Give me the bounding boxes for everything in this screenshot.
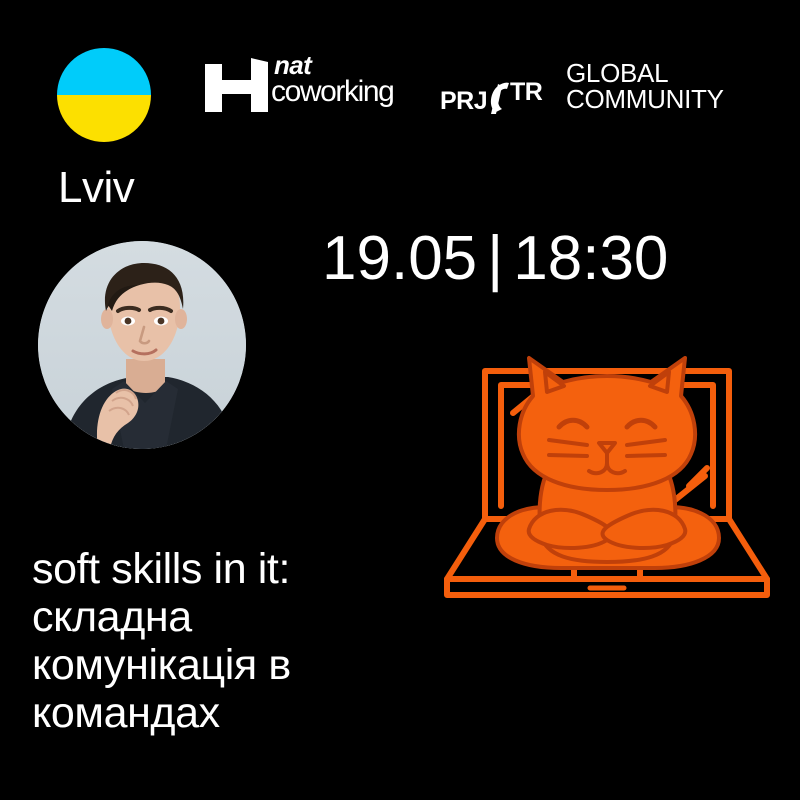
speaker-portrait-image [38,241,246,449]
city-label: Lviv [58,163,134,213]
nat-logo-line2: coworking [271,78,393,106]
nat-coworking-wordmark: nat coworking [271,54,393,106]
prjctr-line2: COMMUNITY [566,86,724,112]
event-poster: nat coworking PRJ TR GLOBAL COMMUNITY Lv… [0,0,800,800]
prjctr-logo: PRJ TR GLOBAL COMMUNITY [440,56,690,118]
event-title-line-4: командах [32,689,452,737]
svg-text:TR: TR [510,78,543,106]
event-title-line-1: soft skills in it: [32,545,452,593]
logo-row: nat coworking PRJ TR GLOBAL COMMUNITY [0,0,800,160]
speaker-avatar [38,241,246,449]
event-time: 18:30 [513,224,668,293]
svg-text:PRJ: PRJ [440,87,487,114]
ukraine-flag-icon [57,48,151,142]
event-datetime: 19.05|18:30 [322,223,668,294]
event-title: soft skills in it: складна комунікація в… [32,545,452,738]
cat-laptop-graphic-icon [437,300,777,635]
datetime-separator: | [477,224,513,293]
prjctr-line1: GLOBAL [566,60,724,86]
event-title-line-2: складна [32,593,452,641]
prjctr-wordmark-icon: PRJ TR [440,78,562,114]
meditating-cat-on-laptop-illustration [437,300,777,635]
event-title-line-3: комунікація в [32,641,452,689]
nat-coworking-mark-icon [205,58,271,112]
prjctr-tagline: GLOBAL COMMUNITY [566,60,724,112]
nat-coworking-logo: nat coworking [205,56,420,118]
event-date: 19.05 [322,224,477,293]
